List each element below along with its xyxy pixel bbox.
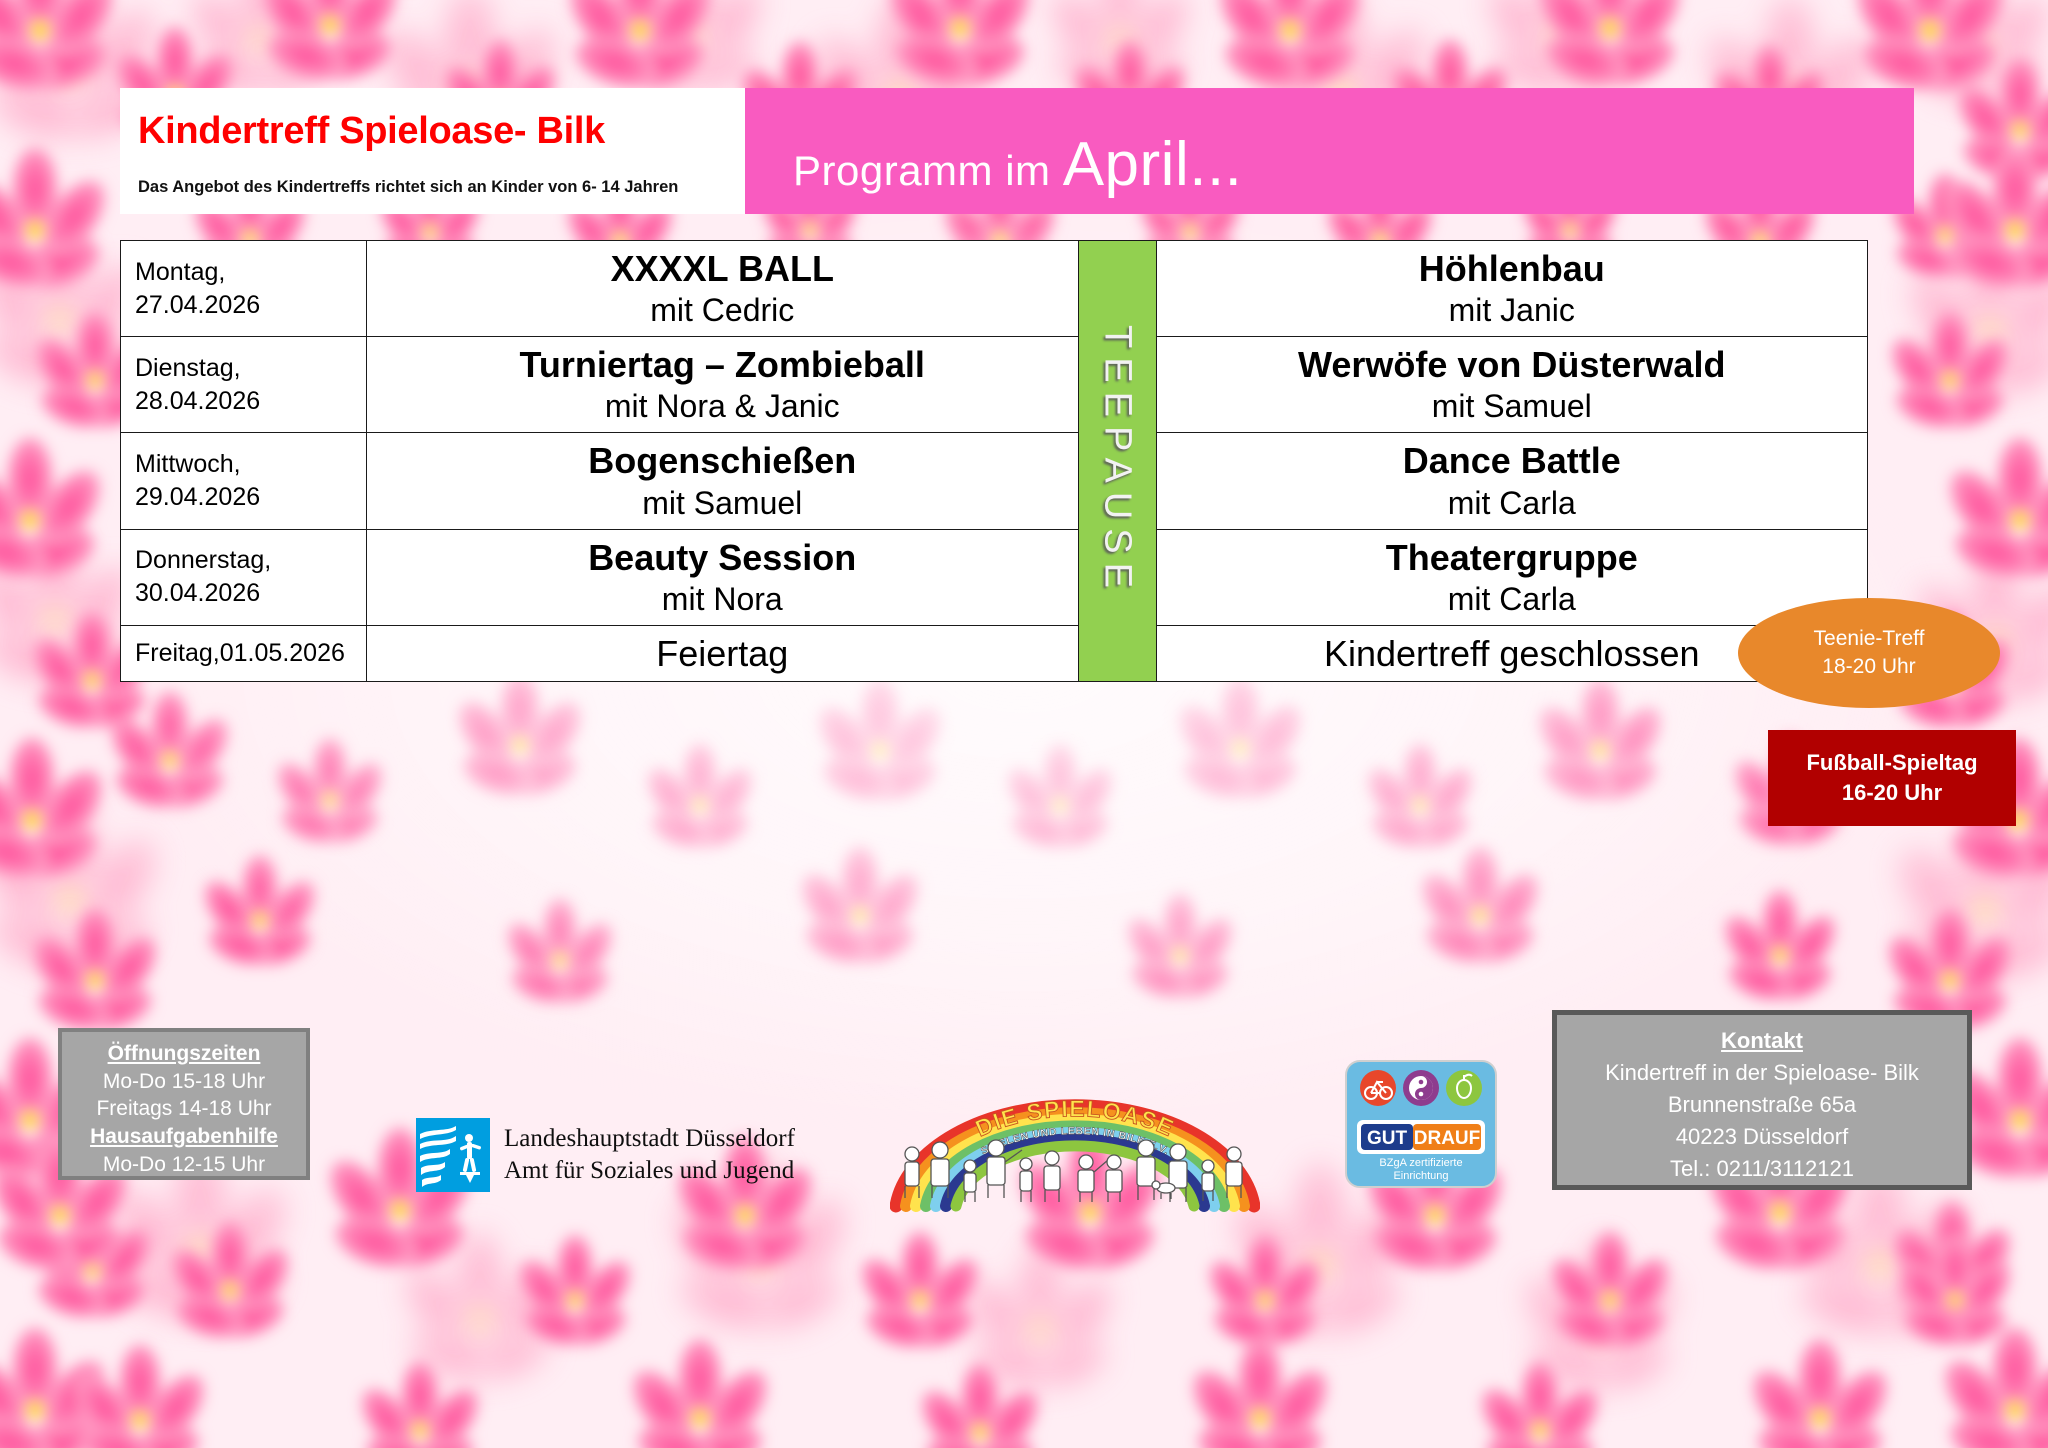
table-row: Dienstag, 28.04.2026 Turniertag – Zombie… bbox=[121, 337, 1868, 433]
table-row: Donnerstag, 30.04.2026 Beauty Session mi… bbox=[121, 529, 1868, 625]
activity-title: Dance Battle bbox=[1167, 439, 1858, 482]
cell-date: Montag, 27.04.2026 bbox=[121, 241, 367, 337]
yin-yang-icon bbox=[1409, 1076, 1433, 1100]
activity-leader: mit Samuel bbox=[1167, 386, 1858, 426]
row-weekday: Montag, bbox=[135, 256, 366, 289]
opening-hours-heading: Öffnungszeiten bbox=[62, 1040, 306, 1068]
row-weekday: Dienstag, bbox=[135, 352, 366, 385]
gut-drauf-logo: GUT DRAUF BZgA zertifizierte Einrichtung bbox=[1345, 1060, 1497, 1188]
page-subtitle: Das Angebot des Kindertreffs richtet sic… bbox=[138, 178, 745, 197]
cell-activity-left: Bogenschießen mit Samuel bbox=[367, 433, 1079, 529]
cell-activity-right: Höhlenbau mit Janic bbox=[1156, 241, 1868, 337]
badge-line-1: Teenie-Treff bbox=[1814, 625, 1925, 653]
contact-city: 40223 Düsseldorf bbox=[1557, 1121, 1967, 1153]
badge-line-2: 18-20 Uhr bbox=[1822, 653, 1915, 681]
gutdrauf-word-2: DRAUF bbox=[1414, 1128, 1481, 1149]
row-date: 28.04.2026 bbox=[135, 385, 366, 418]
month-banner-text: Programm im April... bbox=[793, 134, 1242, 196]
fussball-spieltag-badge: Fußball-Spieltag 16-20 Uhr bbox=[1768, 730, 2016, 826]
activity-leader: mit Nora & Janic bbox=[377, 386, 1068, 426]
row-date: 29.04.2026 bbox=[135, 481, 366, 514]
activity-title: Werwöfe von Düsterwald bbox=[1167, 343, 1858, 386]
duesseldorf-logo-text: Landeshauptstadt Düsseldorf Amt für Sozi… bbox=[504, 1123, 795, 1187]
activity-title: Höhlenbau bbox=[1167, 247, 1858, 290]
activity-leader: mit Carla bbox=[1167, 483, 1858, 523]
duesseldorf-line-2: Amt für Soziales und Jugend bbox=[504, 1155, 795, 1187]
activity-leader: mit Cedric bbox=[377, 290, 1068, 330]
cell-activity-left: Turniertag – Zombieball mit Nora & Janic bbox=[367, 337, 1079, 433]
contact-heading: Kontakt bbox=[1557, 1025, 1967, 1057]
badge-line-2: 16-20 Uhr bbox=[1842, 778, 1942, 808]
opening-hours-line-2: Freitags 14-18 Uhr bbox=[62, 1095, 306, 1123]
contact-street: Brunnenstraße 65a bbox=[1557, 1089, 1967, 1121]
teepause-label: TEEPAUSE bbox=[1096, 325, 1139, 597]
duesseldorf-city-logo: Landeshauptstadt Düsseldorf Amt für Sozi… bbox=[416, 1118, 795, 1192]
gutdrauf-word-1: GUT bbox=[1367, 1128, 1408, 1149]
gutdrauf-caption-2: Einrichtung bbox=[1393, 1170, 1448, 1182]
month-banner-month: April... bbox=[1063, 130, 1243, 199]
spieloase-rainbow-logo: DIE SPIELOASE SPIELEN UND LEBEN IN BILK … bbox=[890, 1078, 1260, 1213]
gutdrauf-caption-1: BZgA zertifizierte bbox=[1379, 1157, 1462, 1169]
cell-activity-left: Feiertag bbox=[367, 625, 1079, 681]
contact-name: Kindertreff in der Spieloase- Bilk bbox=[1557, 1057, 1967, 1089]
activity-leader: mit Janic bbox=[1167, 290, 1858, 330]
opening-hours-box: Öffnungszeiten Mo-Do 15-18 Uhr Freitags … bbox=[58, 1028, 310, 1180]
cell-activity-left: XXXXL BALL mit Cedric bbox=[367, 241, 1079, 337]
activity-leader: mit Nora bbox=[377, 579, 1068, 619]
row-date: Freitag,01.05.2026 bbox=[135, 637, 366, 670]
duesseldorf-line-1: Landeshauptstadt Düsseldorf bbox=[504, 1123, 795, 1155]
floral-background bbox=[0, 0, 2048, 1448]
cell-activity-right: Theatergruppe mit Carla bbox=[1156, 529, 1868, 625]
row-weekday: Donnerstag, bbox=[135, 544, 366, 577]
month-banner-prefix: Programm im bbox=[793, 147, 1063, 194]
table-row-holiday: Freitag,01.05.2026 Feiertag Kindertreff … bbox=[121, 625, 1868, 681]
activity-leader: mit Samuel bbox=[377, 483, 1068, 523]
activity-title: Feiertag bbox=[377, 632, 1068, 675]
table-row: Montag, 27.04.2026 XXXXL BALL mit Cedric… bbox=[121, 241, 1868, 337]
cell-activity-left: Beauty Session mit Nora bbox=[367, 529, 1079, 625]
homework-help-line: Mo-Do 12-15 Uhr bbox=[62, 1151, 306, 1179]
duesseldorf-coat-of-arms-icon bbox=[416, 1118, 490, 1192]
opening-hours-line-1: Mo-Do 15-18 Uhr bbox=[62, 1068, 306, 1096]
header-title-block: Kindertreff Spieloase- Bilk Das Angebot … bbox=[120, 88, 745, 214]
cell-date: Dienstag, 28.04.2026 bbox=[121, 337, 367, 433]
badge-line-1: Fußball-Spieltag bbox=[1806, 748, 1977, 778]
poster-header: Kindertreff Spieloase- Bilk Das Angebot … bbox=[120, 88, 1914, 214]
activity-title: Turniertag – Zombieball bbox=[377, 343, 1068, 386]
cell-activity-right: Werwöfe von Düsterwald mit Samuel bbox=[1156, 337, 1868, 433]
page-title: Kindertreff Spieloase- Bilk bbox=[138, 110, 745, 153]
month-banner: Programm im April... bbox=[745, 88, 1914, 214]
activity-leader: mit Carla bbox=[1167, 579, 1858, 619]
activity-title: Theatergruppe bbox=[1167, 536, 1858, 579]
activity-title: Bogenschießen bbox=[377, 439, 1068, 482]
weekly-schedule-table: Montag, 27.04.2026 XXXXL BALL mit Cedric… bbox=[120, 240, 1868, 682]
row-date: 30.04.2026 bbox=[135, 577, 366, 610]
activity-title: Beauty Session bbox=[377, 536, 1068, 579]
homework-help-heading: Hausaufgabenhilfe bbox=[62, 1123, 306, 1151]
cell-date: Freitag,01.05.2026 bbox=[121, 625, 367, 681]
cell-date: Donnerstag, 30.04.2026 bbox=[121, 529, 367, 625]
cell-date: Mittwoch, 29.04.2026 bbox=[121, 433, 367, 529]
row-date: 27.04.2026 bbox=[135, 289, 366, 322]
row-weekday: Mittwoch, bbox=[135, 448, 366, 481]
teenie-treff-badge: Teenie-Treff 18-20 Uhr bbox=[1738, 598, 2000, 708]
teepause-column: TEEPAUSE bbox=[1078, 241, 1156, 682]
contact-phone: Tel.: 0211/3112121 bbox=[1557, 1153, 1967, 1185]
contact-box: Kontakt Kindertreff in der Spieloase- Bi… bbox=[1552, 1010, 1972, 1190]
table-row: Mittwoch, 29.04.2026 Bogenschießen mit S… bbox=[121, 433, 1868, 529]
cell-activity-right: Dance Battle mit Carla bbox=[1156, 433, 1868, 529]
poster-canvas: Kindertreff Spieloase- Bilk Das Angebot … bbox=[0, 0, 2048, 1448]
activity-title: XXXXL BALL bbox=[377, 247, 1068, 290]
